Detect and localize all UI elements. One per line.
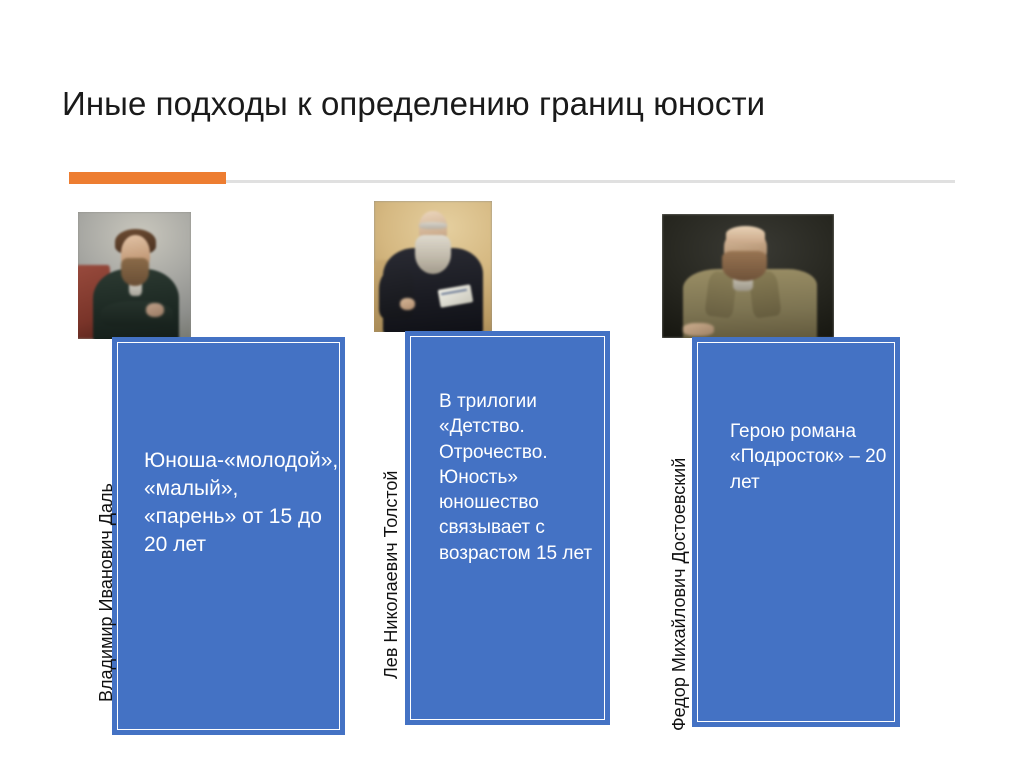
slide-canvas: Иные подходы к определению границ юности… [0,0,1024,767]
portrait-dostoevsky-image [662,214,834,338]
card-dahl-person-label: Владимир Иванович Даль [97,483,115,702]
card-dostoevsky-text: Герою романа «Подросток» – 20 лет [730,419,896,495]
card-dostoevsky-panel: Герою романа «Подросток» – 20 лет [692,337,900,727]
card-tolstoy-person-label: Лев Николаевич Толстой [382,471,400,679]
card-dahl-panel: Юноша-«молодой», «малый», «парень» от 15… [112,337,345,735]
portrait-tolstoy-image [374,201,492,332]
card-inner-border [697,342,895,722]
card-dahl-text: Юноша-«молодой», «малый», «парень» от 15… [144,447,322,559]
card-dostoevsky-person-label: Федор Михайлович Достоевский [670,458,688,731]
title-accent-bar [69,172,226,184]
card-tolstoy-panel: В трилогии «Детство. Отрочество. Юность»… [405,331,610,725]
portrait-dahl-image [78,212,191,339]
card-tolstoy-text: В трилогии «Детство. Отрочество. Юность»… [439,389,597,566]
page-title: Иные подходы к определению границ юности [62,84,962,124]
